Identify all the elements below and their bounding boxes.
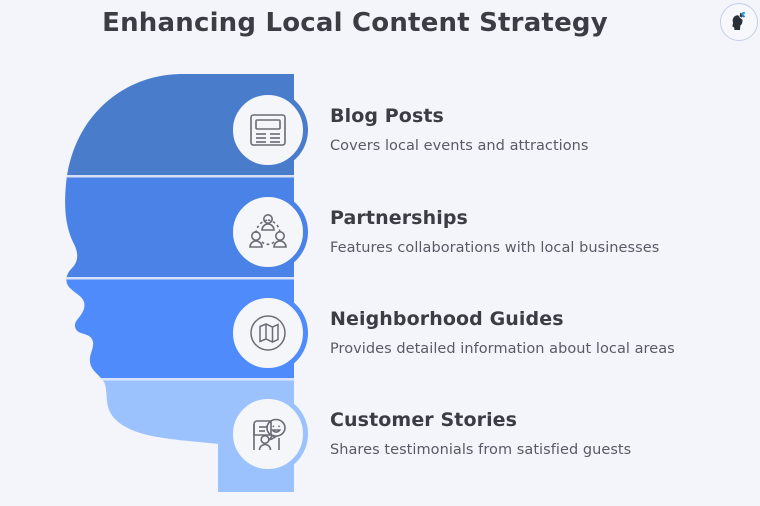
list-item-text-group: Customer Stories Shares testimonials fro… xyxy=(330,409,631,459)
head-with-butterfly-icon xyxy=(726,9,752,35)
list-item-title: Blog Posts xyxy=(330,105,589,128)
brand-logo[interactable] xyxy=(720,3,758,41)
list-item-title: Neighborhood Guides xyxy=(330,308,675,331)
list-item-description: Features collaborations with local busin… xyxy=(330,239,659,257)
list-item-description: Shares testimonials from satisfied guest… xyxy=(330,441,631,459)
list-item[interactable]: Customer Stories Shares testimonials fro… xyxy=(228,392,631,476)
list-item-title: Customer Stories xyxy=(330,409,631,432)
list-item[interactable]: Blog Posts Covers local events and attra… xyxy=(228,88,589,172)
list-item-text-group: Partnerships Features collaborations wit… xyxy=(330,207,659,257)
list-item[interactable]: Partnerships Features collaborations wit… xyxy=(228,190,659,274)
list-item-description: Provides detailed information about loca… xyxy=(330,340,675,358)
icon-badge-customer-stories xyxy=(228,394,308,474)
icon-badge-partnerships xyxy=(228,192,308,272)
icon-badge-neighborhood-guides xyxy=(228,293,308,373)
folded-map-icon xyxy=(245,310,291,356)
list-item[interactable]: Neighborhood Guides Provides detailed in… xyxy=(228,291,675,375)
list-item-text-group: Blog Posts Covers local events and attra… xyxy=(330,105,589,155)
testimonial-speech-bubble-icon xyxy=(245,411,291,457)
icon-badge-blog-posts xyxy=(228,90,308,170)
three-people-network-icon xyxy=(245,209,291,255)
page-title: Enhancing Local Content Strategy xyxy=(0,8,710,38)
newspaper-article-icon xyxy=(245,107,291,153)
list-item-description: Covers local events and attractions xyxy=(330,137,589,155)
list-item-text-group: Neighborhood Guides Provides detailed in… xyxy=(330,308,675,358)
list-item-title: Partnerships xyxy=(330,207,659,230)
